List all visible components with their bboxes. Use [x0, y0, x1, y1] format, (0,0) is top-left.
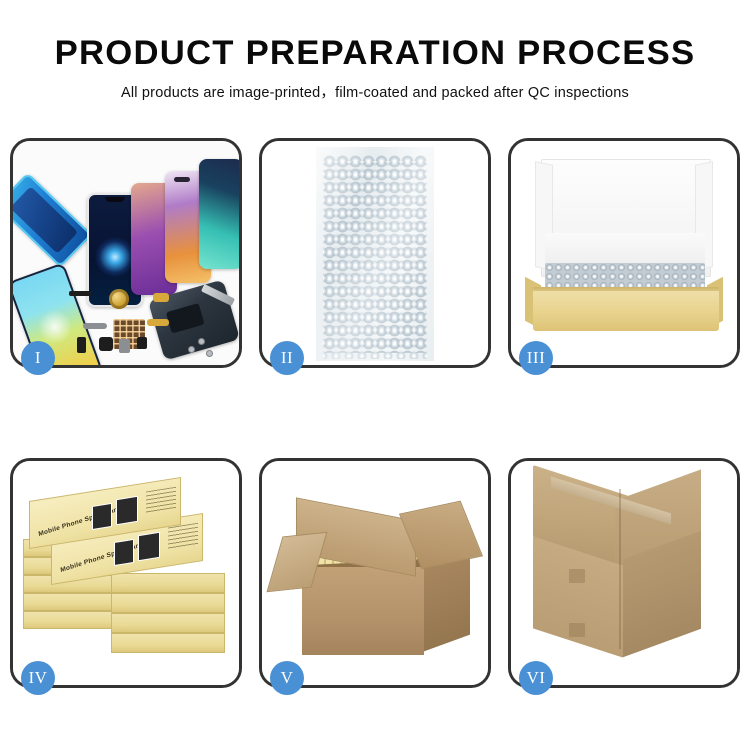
screw-2	[199, 339, 204, 344]
carton-front-face	[302, 567, 424, 655]
part-flex-1	[153, 293, 169, 302]
page-title: PRODUCT PREPARATION PROCESS	[0, 36, 750, 70]
step-badge-6: VI	[519, 661, 553, 695]
step-5-image	[262, 461, 488, 685]
carton-patch-2	[569, 623, 585, 637]
step-badge-5: V	[270, 661, 304, 695]
part-connector-3	[137, 337, 147, 349]
inner-box-front	[533, 291, 719, 331]
part-camera-1	[119, 339, 130, 353]
screw-3	[207, 351, 212, 356]
phone-screen-blue	[13, 172, 92, 268]
process-step-panel-3[interactable]: III	[508, 138, 740, 368]
phone-punch-hole	[174, 177, 190, 182]
box-text-lines-1	[146, 487, 176, 514]
process-step-panel-2[interactable]: II	[259, 138, 491, 368]
stacked-box-r2	[111, 593, 225, 613]
part-flex-2	[147, 319, 169, 326]
part-strip-1	[69, 291, 91, 296]
part-connector-2	[99, 337, 113, 351]
screen-graphic	[95, 237, 135, 277]
part-bracket-1	[83, 323, 107, 329]
stacked-box-l4	[23, 593, 117, 611]
phone-screen-teal	[199, 159, 239, 269]
step-4-image: Mobile Phone Spare Parts Mobile Phone Sp…	[13, 461, 239, 685]
process-step-panel-1[interactable]: I	[10, 138, 242, 368]
phone-notch	[105, 197, 125, 202]
process-step-panel-5[interactable]: V	[259, 458, 491, 688]
bubble-wrap-sheen	[316, 147, 434, 361]
process-step-panel-6[interactable]: VI	[508, 458, 740, 688]
box-window-1b	[116, 496, 138, 525]
box-window-1a	[92, 503, 112, 530]
step-1-image	[13, 141, 239, 365]
step-badge-1: I	[21, 341, 55, 375]
stacked-box-l5	[23, 611, 117, 629]
step-badge-4: IV	[21, 661, 55, 695]
stacked-box-r4	[111, 633, 225, 653]
box-window-2a	[114, 539, 134, 566]
page-subtitle: All products are image-printed，film-coat…	[0, 86, 750, 101]
step-2-image	[262, 141, 488, 365]
part-connector-1	[77, 337, 86, 353]
screw-1	[189, 347, 194, 352]
step-3-image	[511, 141, 737, 365]
box-window-2b	[138, 532, 160, 561]
process-step-panel-4[interactable]: Mobile Phone Spare Parts Mobile Phone Sp…	[10, 458, 242, 688]
process-step-grid: I II III	[10, 138, 740, 698]
step-badge-2: II	[270, 341, 304, 375]
carton-patch-1	[569, 569, 585, 583]
stacked-box-r1	[111, 573, 225, 593]
stacked-box-r3	[111, 613, 225, 633]
page-header: PRODUCT PREPARATION PROCESS All products…	[0, 0, 750, 101]
step-6-image	[511, 461, 737, 685]
box-text-lines-2	[168, 523, 198, 550]
step-badge-3: III	[519, 341, 553, 375]
carton-seam	[619, 489, 621, 649]
speaker-coil-part	[109, 289, 129, 309]
box-stack: Mobile Phone Spare Parts Mobile Phone Sp…	[19, 477, 233, 677]
